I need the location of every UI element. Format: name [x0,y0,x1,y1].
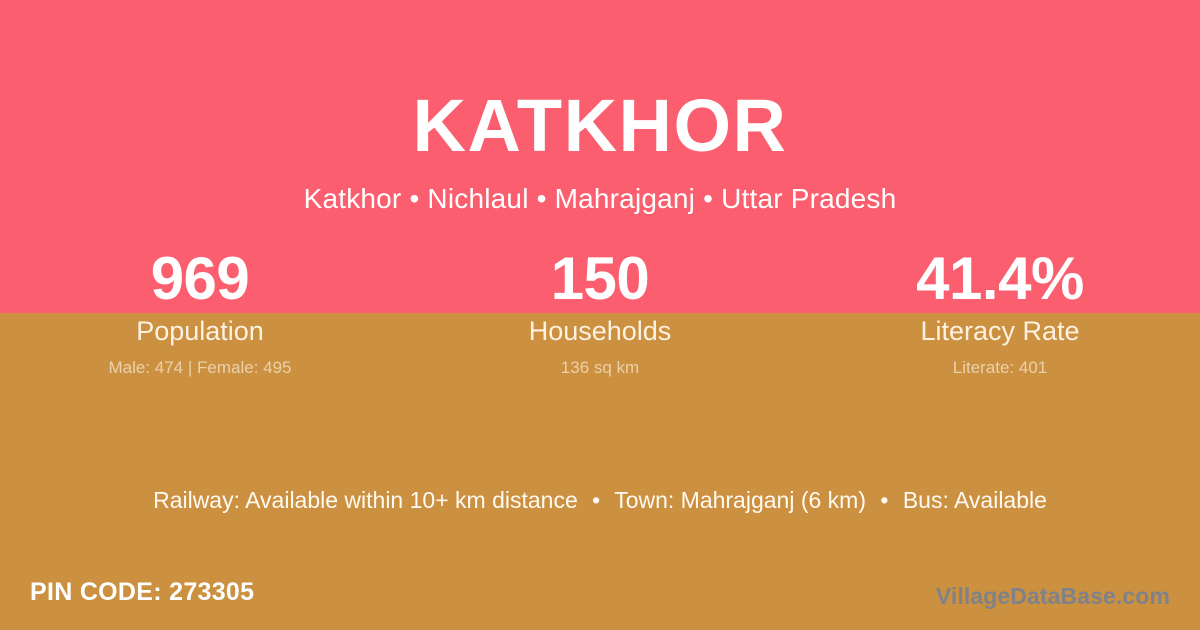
stats-row: 969 Population Male: 474 | Female: 495 1… [0,245,1200,379]
amenity-town: Town: Mahrajganj (6 km) [614,487,866,513]
stat-households: 150 Households 136 sq km [400,245,800,379]
stat-value-literacy-rate: 41.4% [800,245,1200,313]
breadcrumb: Katkhor • Nichlaul • Mahrajganj • Uttar … [0,182,1200,216]
stat-value-households: 150 [400,245,800,313]
stat-literacy-rate: 41.4% Literacy Rate Literate: 401 [800,245,1200,379]
stat-label-literacy-rate: Literacy Rate [800,315,1200,347]
amenities-line: Railway: Available within 10+ km distanc… [0,485,1200,515]
stat-label-population: Population [0,315,400,347]
stat-value-population: 969 [0,245,400,313]
amenity-bus: Bus: Available [903,487,1047,513]
stat-sub-literacy-rate: Literate: 401 [800,357,1200,379]
brand-watermark: VillageDataBase.com [936,581,1170,611]
card-footer: PIN CODE: 273305 VillageDataBase.com [0,575,1200,630]
stat-sub-population: Male: 474 | Female: 495 [0,357,400,379]
amenity-railway: Railway: Available within 10+ km distanc… [153,487,578,513]
stat-sub-households: 136 sq km [400,357,800,379]
amenity-separator-icon: • [872,485,896,515]
amenity-separator-icon: • [584,485,608,515]
stat-label-households: Households [400,315,800,347]
page-title: KATKHOR [0,83,1200,169]
stat-population: 969 Population Male: 474 | Female: 495 [0,245,400,379]
village-share-card: KATKHOR Katkhor • Nichlaul • Mahrajganj … [0,0,1200,630]
pin-code: PIN CODE: 273305 [30,575,254,609]
